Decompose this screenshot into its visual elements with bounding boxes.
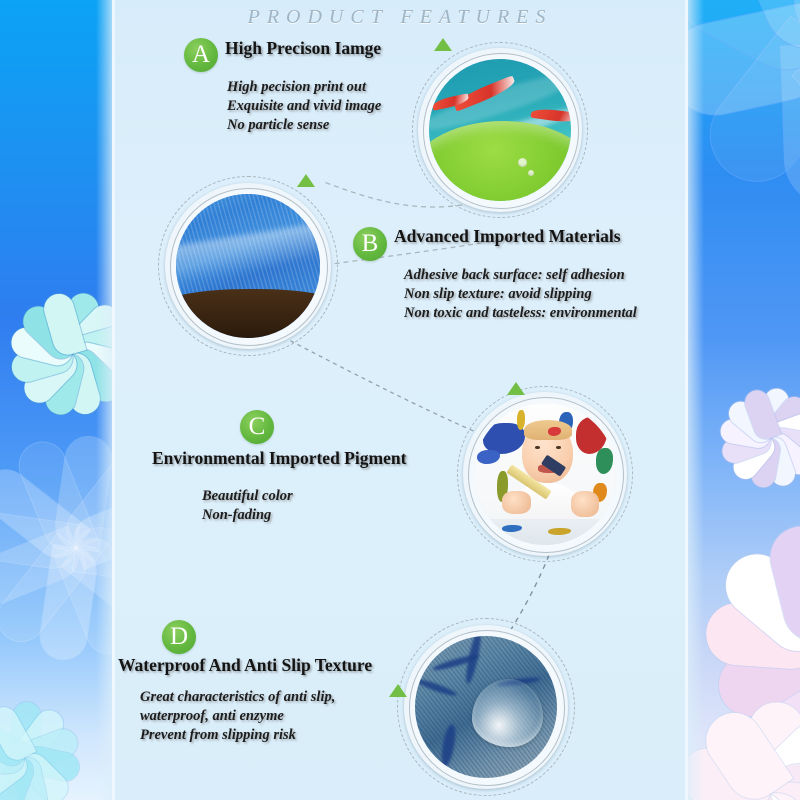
heading-c: Environmental Imported Pigment [152, 448, 406, 469]
cyan-pinwheel-flower [8, 290, 118, 418]
bullet-a-3: No particle sense [227, 116, 381, 135]
bullets-d: Great characteristics of anti slip, wate… [140, 688, 335, 745]
baby-photo-image [474, 403, 616, 545]
heading-a: High Precison Iamge [225, 38, 381, 59]
badge-a: A [184, 38, 218, 72]
koi-photo-image [429, 59, 571, 201]
water-droplet-photo [397, 618, 575, 796]
white-pinwheel-flower-small [0, 700, 82, 800]
bullet-d-2: waterproof, anti enzyme [140, 707, 335, 726]
bullet-a-2: Exquisite and vivid image [227, 97, 381, 116]
arrow-to-fabric-photo [297, 174, 315, 187]
heading-b: Advanced Imported Materials [394, 226, 621, 247]
fabric-photo-image [176, 194, 320, 338]
white-pinwheel-flower-small [718, 386, 800, 490]
painting-baby-photo [457, 386, 633, 562]
arrow-to-droplet-photo [389, 684, 407, 697]
product-features-infographic: PRODUCT FEATURES A High Precison Iamge H… [0, 0, 800, 800]
blue-fabric-photo [158, 176, 338, 356]
arrow-to-koi-photo [434, 38, 452, 51]
faint-blue-pinwheel-flower [0, 430, 118, 666]
badge-d: D [162, 620, 196, 654]
pale-petal-flower-bottom [682, 700, 800, 800]
bullets-b: Adhesive back surface: self adhesion Non… [404, 266, 637, 323]
bullet-a-1: High pecision print out [227, 78, 381, 97]
droplet-photo-image [415, 636, 557, 778]
koi-pond-photo [412, 42, 588, 218]
bullet-c-1: Beautiful color [202, 487, 293, 506]
bullets-a: High pecision print out Exquisite and vi… [227, 78, 381, 135]
bullet-d-3: Prevent from slipping risk [140, 726, 335, 745]
bullet-b-3: Non toxic and tasteless: environmental [404, 304, 637, 323]
bullet-b-2: Non slip texture: avoid slipping [404, 285, 637, 304]
right-decorative-band [682, 0, 800, 800]
bullet-d-1: Great characteristics of anti slip, [140, 688, 335, 707]
badge-c: C [240, 410, 274, 444]
bullet-c-2: Non-fading [202, 506, 293, 525]
bullets-c: Beautiful color Non-fading [202, 487, 293, 525]
arrow-to-baby-photo [507, 382, 525, 395]
badge-b: B [353, 227, 387, 261]
content-panel: PRODUCT FEATURES A High Precison Iamge H… [112, 0, 688, 800]
heading-d: Waterproof And Anti Slip Texture [118, 655, 372, 676]
bullet-b-1: Adhesive back surface: self adhesion [404, 266, 637, 285]
left-decorative-band [0, 0, 118, 800]
blue-petal-fan-large [682, 0, 800, 210]
